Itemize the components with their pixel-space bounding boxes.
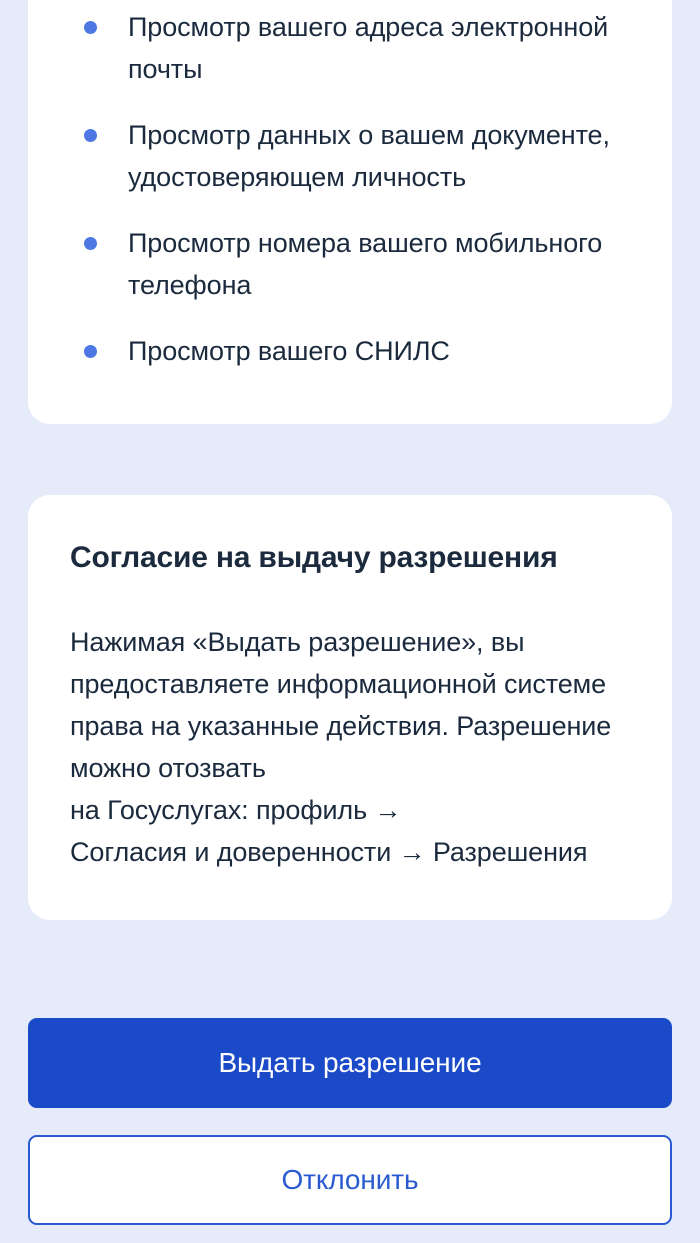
grant-permission-button[interactable]: Выдать разрешение (28, 1018, 672, 1108)
consent-title: Согласие на выдачу разрешения (70, 539, 630, 577)
consent-description: Нажимая «Выдать разрешение», вы предоста… (70, 621, 630, 873)
permission-label: Просмотр номера вашего мобильного телефо… (128, 228, 602, 300)
permission-label: Просмотр данных о вашем документе, удост… (128, 120, 610, 192)
permissions-list: Просмотр вашего адреса электронной почты… (72, 0, 628, 372)
bullet-dot-icon (84, 21, 97, 34)
list-item: Просмотр данных о вашем документе, удост… (72, 114, 628, 198)
bullet-dot-icon (84, 237, 97, 250)
list-item: Просмотр вашего СНИЛС (72, 330, 628, 372)
permissions-card: Просмотр вашего адреса электронной почты… (28, 0, 672, 424)
list-item: Просмотр вашего адреса электронной почты (72, 6, 628, 90)
permission-label: Просмотр вашего СНИЛС (128, 336, 450, 366)
consent-card: Согласие на выдачу разрешения Нажимая «В… (28, 495, 672, 920)
bullet-dot-icon (84, 345, 97, 358)
permission-label: Просмотр вашего адреса электронной почты (128, 12, 608, 84)
bullet-dot-icon (84, 129, 97, 142)
list-item: Просмотр номера вашего мобильного телефо… (72, 222, 628, 306)
decline-button[interactable]: Отклонить (28, 1135, 672, 1225)
permission-consent-screen: Просмотр вашего адреса электронной почты… (0, 0, 700, 1243)
